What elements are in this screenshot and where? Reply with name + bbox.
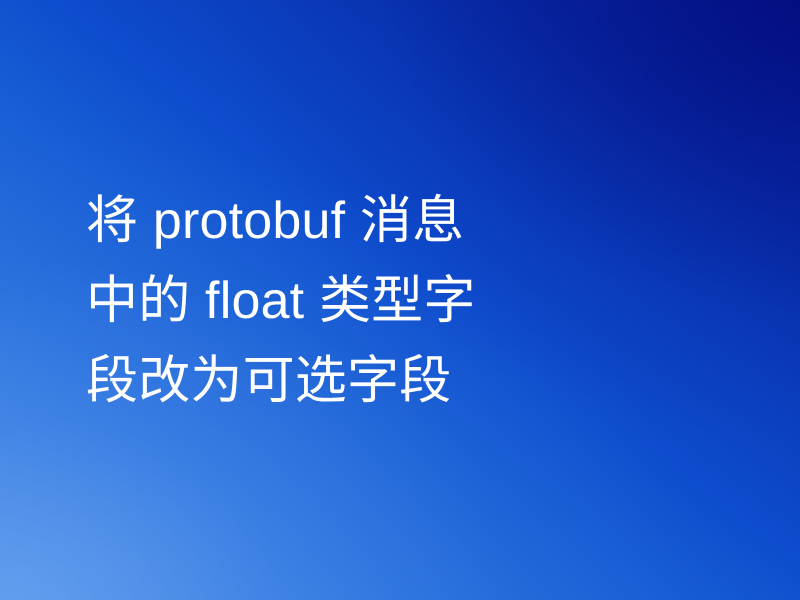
headline-text-block: 将 protobuf 消息 中的 float 类型字 段改为可选字段 xyxy=(86,181,476,421)
headline-line-1: 将 protobuf 消息 xyxy=(86,181,476,261)
headline-line-3: 段改为可选字段 xyxy=(86,341,476,421)
headline-line-2: 中的 float 类型字 xyxy=(86,261,476,341)
title-card: 将 protobuf 消息 中的 float 类型字 段改为可选字段 xyxy=(0,0,800,600)
